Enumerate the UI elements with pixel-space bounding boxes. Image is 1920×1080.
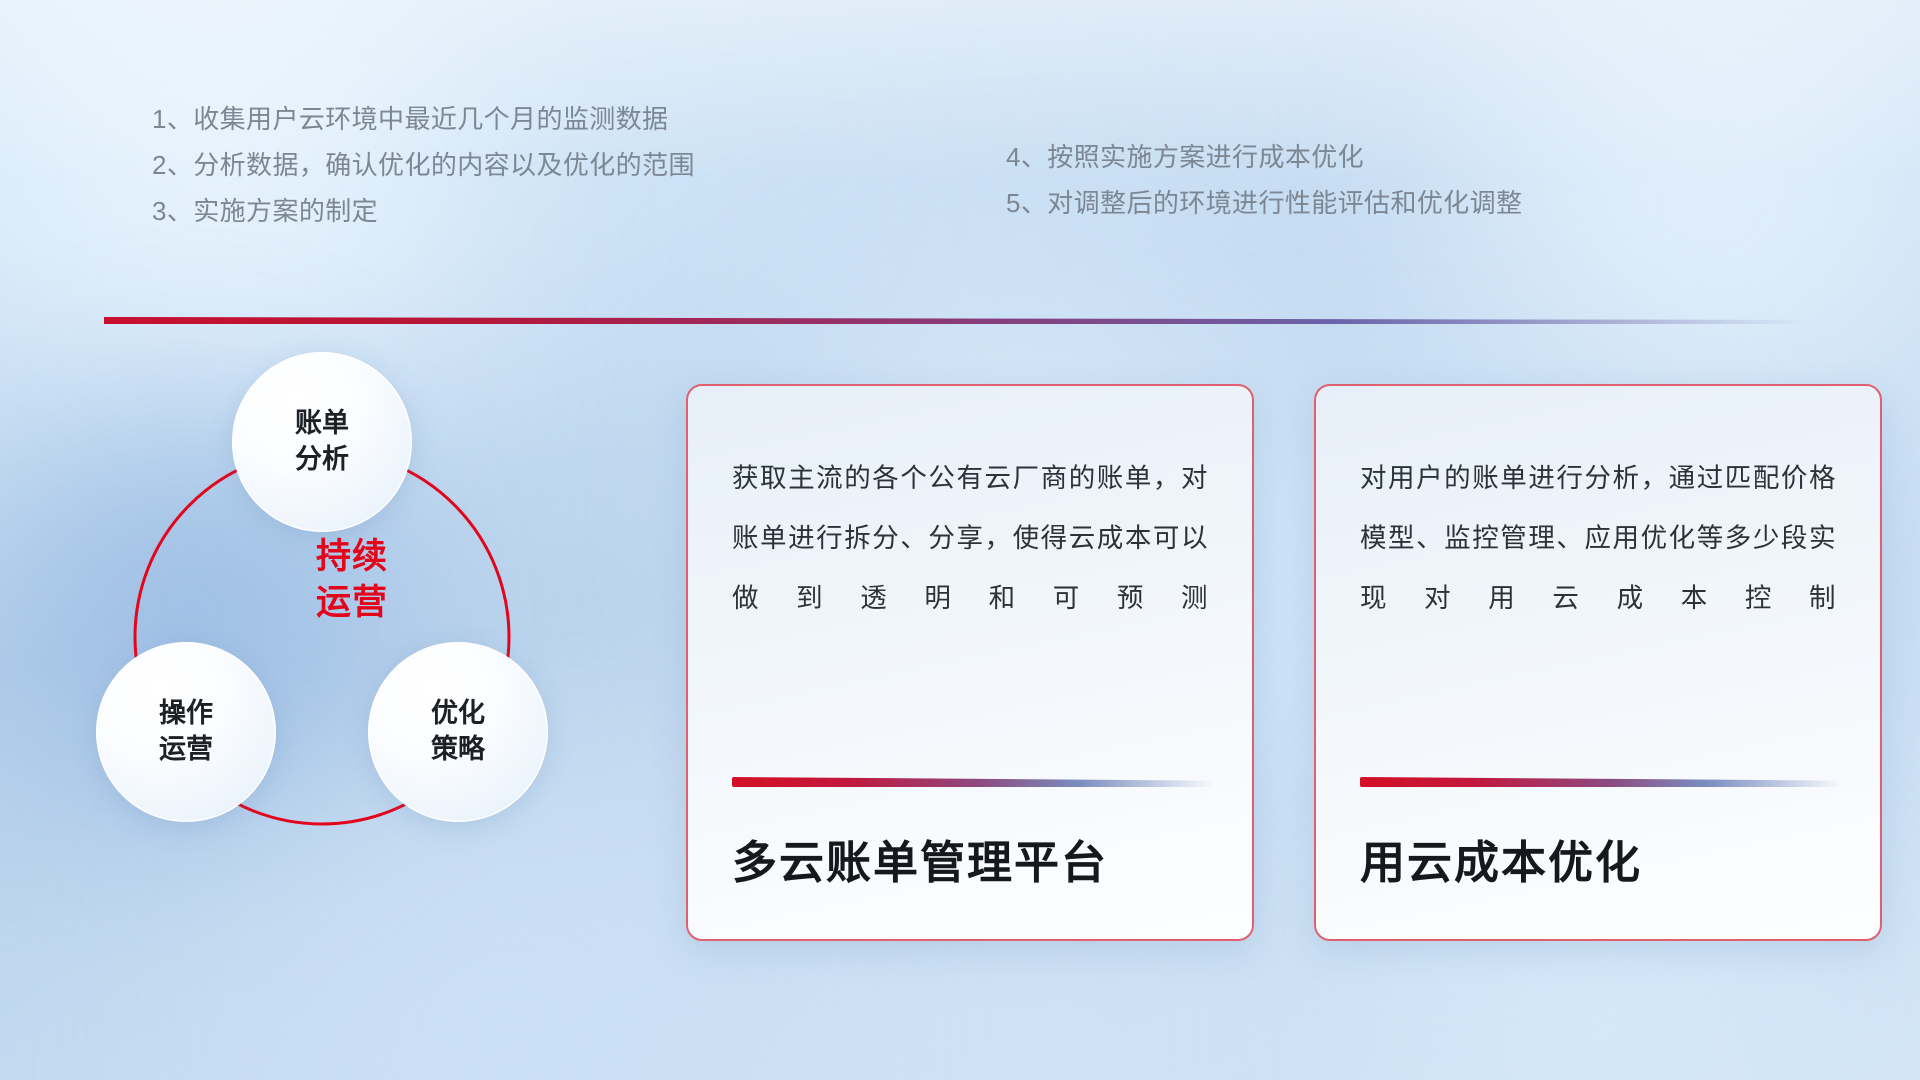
card-body-text: 获取主流的各个公有云厂商的账单，对账单进行拆分、分享，使得云成本可以做到透明和可…	[732, 448, 1208, 628]
venn-center-label-line1: 持续	[252, 534, 452, 580]
venn-bubble-label-line2: 分析	[295, 442, 349, 478]
step-item-5: 5、对调整后的环境进行性能评估和优化调整	[1006, 180, 1522, 226]
step-item-1: 1、收集用户云环境中最近几个月的监测数据	[152, 96, 695, 142]
venn-bubble-label-line1: 账单	[295, 406, 349, 442]
venn-bubble-bill-analysis[interactable]: 账单 分析	[232, 352, 412, 532]
card-divider-rule	[1360, 777, 1842, 787]
venn-bubble-label-line2: 运营	[159, 732, 213, 768]
venn-bubble-label-line1: 操作	[159, 696, 213, 732]
card-title: 用云成本优化	[1360, 826, 1642, 891]
step-item-4: 4、按照实施方案进行成本优化	[1006, 134, 1522, 180]
step-item-3: 3、实施方案的制定	[152, 188, 695, 234]
venn-bubble-optimize-strategy[interactable]: 优化 策略	[368, 642, 548, 822]
venn-center-label-line2: 运营	[252, 580, 452, 626]
steps-section: 1、收集用户云环境中最近几个月的监测数据 2、分析数据，确认优化的内容以及优化的…	[0, 96, 1920, 246]
feature-cards: 获取主流的各个公有云厂商的账单，对账单进行拆分、分享，使得云成本可以做到透明和可…	[686, 384, 1882, 941]
venn-center-label: 持续 运营	[252, 534, 452, 625]
steps-right-column: 4、按照实施方案进行成本优化 5、对调整后的环境进行性能评估和优化调整	[1006, 134, 1522, 226]
card-multi-cloud-bill-platform[interactable]: 获取主流的各个公有云厂商的账单，对账单进行拆分、分享，使得云成本可以做到透明和可…	[686, 384, 1254, 941]
steps-left-column: 1、收集用户云环境中最近几个月的监测数据 2、分析数据，确认优化的内容以及优化的…	[152, 96, 695, 234]
venn-bubble-label-line2: 策略	[431, 732, 485, 768]
card-divider-rule	[732, 777, 1214, 787]
card-title: 多云账单管理平台	[732, 826, 1108, 891]
venn-bubble-operation-ops[interactable]: 操作 运营	[96, 642, 276, 822]
step-item-2: 2、分析数据，确认优化的内容以及优化的范围	[152, 142, 695, 188]
card-cloud-cost-optimization[interactable]: 对用户的账单进行分析，通过匹配价格模型、监控管理、应用优化等多少段实现对用云成本…	[1314, 384, 1882, 941]
continuous-operation-diagram: 账单 分析 操作 运营 优化 策略 持续 运营	[96, 352, 616, 932]
card-body-text: 对用户的账单进行分析，通过匹配价格模型、监控管理、应用优化等多少段实现对用云成本…	[1360, 448, 1836, 628]
venn-bubble-label-line1: 优化	[431, 696, 485, 732]
